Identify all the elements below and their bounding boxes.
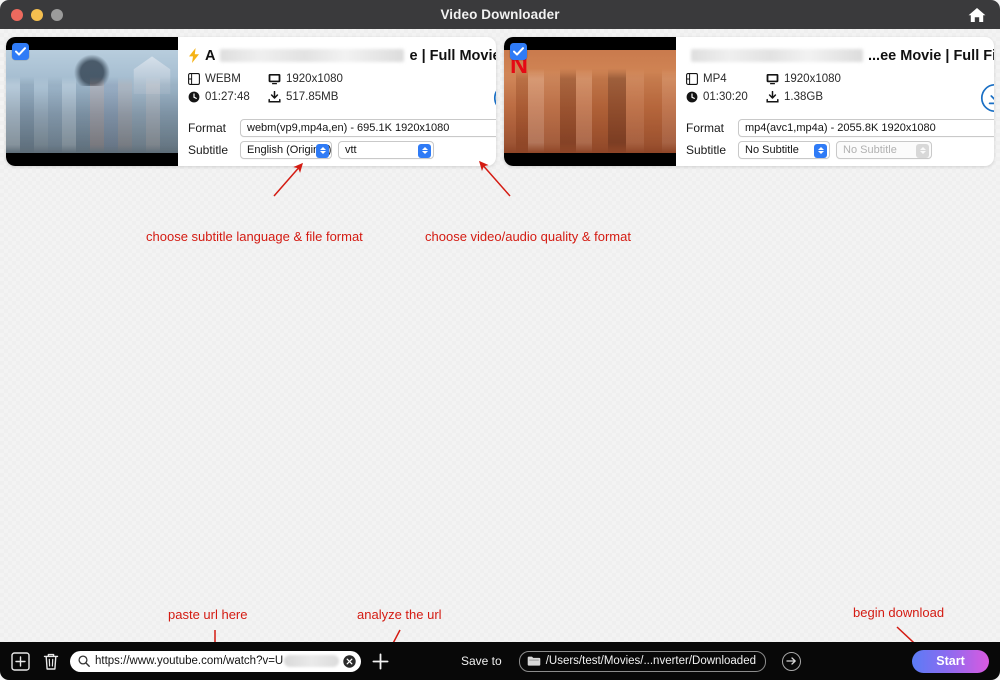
- arrow-download: [897, 627, 943, 642]
- meta-duration: 01:30:20: [686, 91, 766, 103]
- chevron-up-icon: [818, 147, 824, 150]
- meta-resolution: 1920x1080: [766, 73, 994, 85]
- format-select-value: webm(vp9,mp4a,en) - 695.1K 1920x1080: [247, 122, 449, 134]
- filesize-text: 517.85MB: [286, 91, 338, 103]
- format-label: Format: [188, 121, 234, 135]
- format-select[interactable]: mp4(avc1,mp4a) - 2055.8K 1920x1080: [738, 119, 994, 137]
- annotation-analyze-note: analyze the url: [357, 607, 442, 622]
- thumbnail[interactable]: [6, 37, 178, 166]
- main-canvas: A e | Full Movie HD WEBM: [0, 29, 1000, 642]
- video-cards-list: A e | Full Movie HD WEBM: [0, 29, 1000, 166]
- thumbnail[interactable]: N: [504, 37, 676, 166]
- subtitle-label: Subtitle: [188, 143, 234, 157]
- video-title: ...ee Movie | Full Film: [686, 45, 994, 66]
- checkmark-icon: [513, 47, 524, 56]
- selectors: Format webm(vp9,mp4a,en) - 695.1K 1920x1…: [188, 119, 496, 159]
- page-title: Video Downloader: [0, 7, 1000, 22]
- subtitle-row: Subtitle No Subtitle No Subtitle: [686, 141, 994, 159]
- app-window: Video Downloader: [0, 0, 1000, 680]
- select-video-checkbox[interactable]: [510, 43, 527, 60]
- checkmark-icon: [15, 47, 26, 56]
- arrow-subtitle: [274, 164, 302, 196]
- video-title-suffix: ...ee Movie | Full Film: [868, 48, 994, 64]
- url-redacted: [284, 655, 339, 667]
- home-icon: [967, 6, 987, 24]
- download-size-icon: [766, 91, 779, 103]
- video-title-suffix: e | Full Movie HD: [409, 48, 496, 64]
- filesize-text: 1.38GB: [784, 91, 823, 103]
- film-icon: [686, 73, 698, 85]
- annotation-download-note: begin download: [853, 605, 944, 620]
- subtitle-language-stepper[interactable]: [814, 144, 827, 158]
- bottom-toolbar: https://www.youtube.com/watch?v=U Save t…: [0, 642, 1000, 680]
- format-select-value: mp4(avc1,mp4a) - 2055.8K 1920x1080: [745, 122, 936, 134]
- meta-filesize: 1.38GB: [766, 91, 994, 103]
- lightning-bolt-icon: [188, 48, 200, 63]
- download-button[interactable]: [980, 83, 994, 113]
- chevron-down-icon: [320, 151, 326, 154]
- house-shape: [128, 54, 176, 94]
- video-card[interactable]: N ...ee Movie | Full Film: [504, 37, 994, 166]
- monitor-icon: [268, 73, 281, 85]
- subtitle-format-value: vtt: [345, 144, 357, 156]
- home-button[interactable]: [966, 4, 988, 26]
- clear-url-button[interactable]: [343, 655, 356, 668]
- subtitle-format-value: No Subtitle: [843, 144, 897, 156]
- format-select[interactable]: webm(vp9,mp4a,en) - 695.1K 1920x1080: [240, 119, 496, 137]
- start-button[interactable]: Start: [912, 650, 989, 673]
- subtitle-language-select[interactable]: No Subtitle: [738, 141, 830, 159]
- minimize-window-button[interactable]: [31, 9, 43, 21]
- save-path-button[interactable]: /Users/test/Movies/...nverter/Downloaded: [519, 651, 766, 672]
- subtitle-row: Subtitle English (Original) vtt: [188, 141, 496, 159]
- duration-text: 01:27:48: [205, 91, 250, 103]
- subtitle-format-select[interactable]: vtt: [338, 141, 434, 159]
- arrow-right-circle-icon: [786, 656, 797, 666]
- video-title-prefix: A: [205, 48, 215, 64]
- subtitle-format-stepper[interactable]: [418, 144, 431, 158]
- chevron-up-icon: [320, 147, 326, 150]
- video-title: A e | Full Movie HD: [188, 45, 496, 66]
- annotation-quality-note: choose video/audio quality & format: [425, 229, 631, 244]
- selectors: Format mp4(avc1,mp4a) - 2055.8K 1920x108…: [686, 119, 994, 159]
- download-circle-icon: [980, 83, 994, 113]
- subtitle-language-value: No Subtitle: [745, 144, 799, 156]
- maximize-window-button[interactable]: [51, 9, 63, 21]
- video-metadata: WEBM 1920x1080: [188, 73, 496, 103]
- meta-format: MP4: [686, 73, 766, 85]
- arrow-analyze: [379, 630, 400, 642]
- clock-icon: [686, 91, 698, 103]
- clock-icon: [188, 91, 200, 103]
- folder-icon: [527, 655, 541, 667]
- arrow-quality: [480, 162, 510, 196]
- chevron-down-icon: [422, 151, 428, 154]
- format-badge-text: WEBM: [205, 73, 241, 85]
- monitor-icon: [766, 73, 779, 85]
- meta-duration: 01:27:48: [188, 91, 268, 103]
- format-row: Format mp4(avc1,mp4a) - 2055.8K 1920x108…: [686, 119, 994, 137]
- format-row: Format webm(vp9,mp4a,en) - 695.1K 1920x1…: [188, 119, 496, 137]
- subtitle-format-select: No Subtitle: [836, 141, 932, 159]
- resolution-text: 1920x1080: [286, 73, 343, 85]
- subtitle-format-stepper: [916, 144, 929, 158]
- add-item-button[interactable]: [10, 651, 31, 672]
- url-input-value: https://www.youtube.com/watch?v=U: [95, 655, 283, 667]
- video-title-redacted: [691, 49, 863, 62]
- download-size-icon: [268, 91, 281, 103]
- select-video-checkbox[interactable]: [12, 43, 29, 60]
- traffic-lights: [0, 9, 63, 21]
- titlebar: Video Downloader: [0, 0, 1000, 29]
- duration-text: 01:30:20: [703, 91, 748, 103]
- meta-format: WEBM: [188, 73, 268, 85]
- chevron-down-icon: [818, 151, 824, 154]
- video-title-redacted: [220, 49, 404, 62]
- chevron-down-icon: [920, 151, 926, 154]
- subtitle-language-select[interactable]: English (Original): [240, 141, 332, 159]
- close-window-button[interactable]: [11, 9, 23, 21]
- format-badge-text: MP4: [703, 73, 727, 85]
- meta-filesize: 517.85MB: [268, 91, 496, 103]
- search-icon: [78, 655, 90, 667]
- video-metadata: MP4 1920x1080: [686, 73, 994, 103]
- open-folder-button[interactable]: [782, 652, 801, 671]
- analyze-url-button[interactable]: [370, 651, 390, 671]
- trash-icon: [42, 652, 60, 671]
- annotation-subtitle-note: choose subtitle language & file format: [146, 229, 363, 244]
- subtitle-label: Subtitle: [686, 143, 732, 157]
- chevron-up-icon: [422, 147, 428, 150]
- add-box-icon: [11, 652, 30, 671]
- annotation-paste-note: paste url here: [168, 607, 248, 622]
- delete-button[interactable]: [40, 651, 61, 672]
- film-icon: [188, 73, 200, 85]
- save-to-label: Save to: [461, 654, 502, 668]
- resolution-text: 1920x1080: [784, 73, 841, 85]
- url-input[interactable]: https://www.youtube.com/watch?v=U: [70, 651, 361, 672]
- format-label: Format: [686, 121, 732, 135]
- video-card[interactable]: A e | Full Movie HD WEBM: [6, 37, 496, 166]
- video-card-body: A e | Full Movie HD WEBM: [178, 37, 496, 166]
- tree-shape: [70, 52, 114, 86]
- download-button[interactable]: [493, 83, 496, 113]
- meta-resolution: 1920x1080: [268, 73, 496, 85]
- subtitle-language-stepper[interactable]: [316, 144, 329, 158]
- download-circle-icon: [493, 83, 496, 113]
- plus-icon: [371, 652, 390, 671]
- save-path-text: /Users/test/Movies/...nverter/Downloaded: [546, 655, 756, 667]
- house-scene-thumbnail: [6, 50, 178, 153]
- clear-circle-icon: [343, 655, 356, 668]
- chevron-up-icon: [920, 147, 926, 150]
- mars-scene-thumbnail: [504, 50, 676, 153]
- video-card-body: ...ee Movie | Full Film MP4: [676, 37, 994, 166]
